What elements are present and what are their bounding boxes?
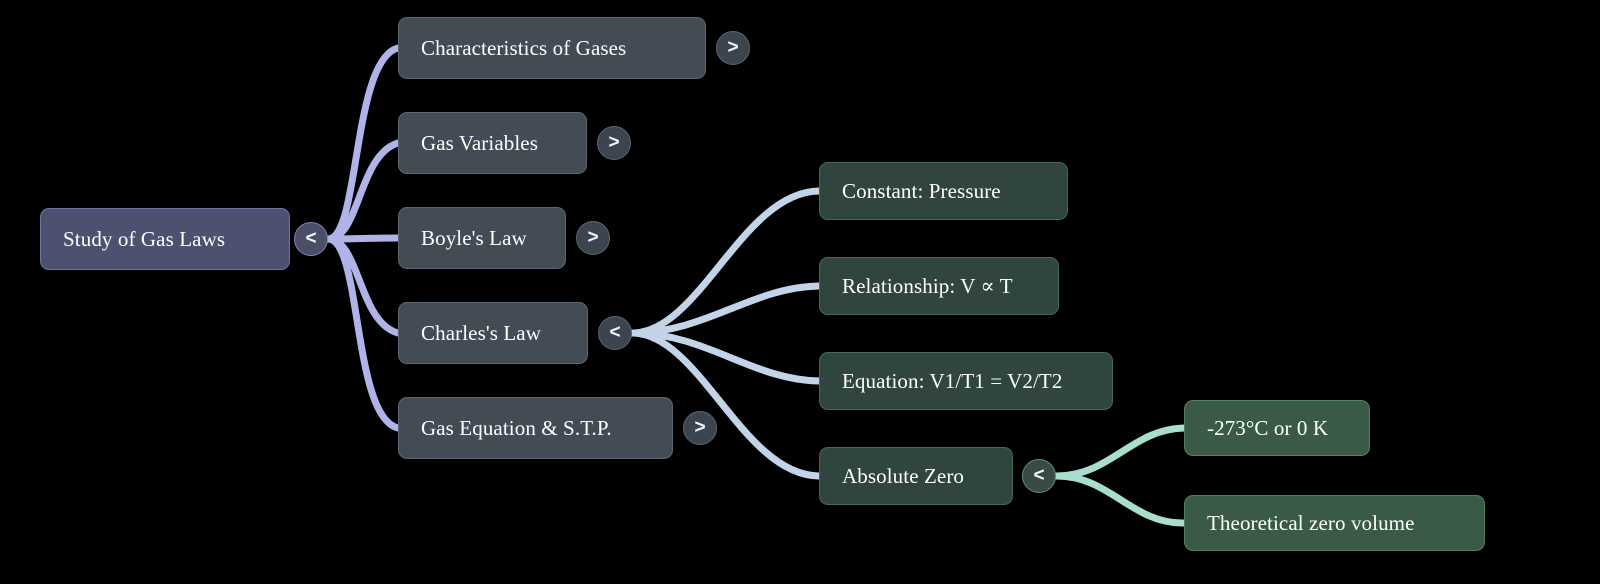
edge-absolute-zero-to-273c	[1057, 428, 1184, 476]
edges-absolute-zero	[1057, 428, 1184, 523]
node-equation-v1t1-v2t2-label: Equation: V1/T1 = V2/T2	[842, 371, 1062, 392]
chevron-right-icon: >	[608, 133, 619, 152]
node-gas-variables-label: Gas Variables	[421, 133, 538, 154]
node-absolute-zero[interactable]: Absolute Zero	[819, 447, 1013, 505]
node-minus-273c-or-0k-label: -273°C or 0 K	[1207, 418, 1328, 439]
node-theoretical-zero-volume-label: Theoretical zero volume	[1207, 513, 1415, 534]
edge-root-to-gas-equation	[328, 239, 398, 428]
node-root[interactable]: Study of Gas Laws	[40, 208, 290, 270]
node-root-label: Study of Gas Laws	[63, 229, 225, 250]
edge-absolute-zero-to-theoretical-volume	[1057, 476, 1184, 523]
edge-root-to-gas-variables	[328, 143, 398, 239]
edge-root-to-characteristics	[328, 48, 398, 239]
toggle-gas-variables[interactable]: >	[597, 126, 631, 160]
node-relationship-v-prop-t-label: Relationship: V ∝ T	[842, 276, 1013, 297]
toggle-boyles-law[interactable]: >	[576, 221, 610, 255]
toggle-absolute-zero[interactable]: <	[1022, 459, 1056, 493]
chevron-right-icon: >	[694, 418, 705, 437]
node-charles-law[interactable]: Charles's Law	[398, 302, 588, 364]
edge-charles-to-relationship	[632, 286, 819, 333]
edge-charles-to-constant-pressure	[632, 191, 819, 333]
mindmap-canvas: Study of Gas Laws < Characteristics of G…	[0, 0, 1600, 584]
node-minus-273c-or-0k[interactable]: -273°C or 0 K	[1184, 400, 1370, 456]
edge-root-to-charles-law	[328, 239, 398, 333]
chevron-left-icon: <	[305, 229, 316, 248]
node-equation-v1t1-v2t2[interactable]: Equation: V1/T1 = V2/T2	[819, 352, 1113, 410]
node-characteristics-of-gases[interactable]: Characteristics of Gases	[398, 17, 706, 79]
node-boyles-law[interactable]: Boyle's Law	[398, 207, 566, 269]
edge-charles-to-equation	[632, 333, 819, 381]
toggle-gas-equation-stp[interactable]: >	[683, 411, 717, 445]
node-constant-pressure-label: Constant: Pressure	[842, 181, 1001, 202]
node-relationship-v-prop-t[interactable]: Relationship: V ∝ T	[819, 257, 1059, 315]
node-boyles-law-label: Boyle's Law	[421, 228, 527, 249]
node-constant-pressure[interactable]: Constant: Pressure	[819, 162, 1068, 220]
node-charles-law-label: Charles's Law	[421, 323, 541, 344]
chevron-left-icon: <	[1033, 466, 1044, 485]
chevron-left-icon: <	[609, 323, 620, 342]
edges-root	[328, 48, 398, 428]
toggle-charles-law[interactable]: <	[598, 316, 632, 350]
chevron-right-icon: >	[727, 38, 738, 57]
node-characteristics-of-gases-label: Characteristics of Gases	[421, 38, 626, 59]
node-gas-variables[interactable]: Gas Variables	[398, 112, 587, 174]
toggle-characteristics-of-gases[interactable]: >	[716, 31, 750, 65]
edge-root-to-boyles-law	[328, 238, 398, 239]
chevron-right-icon: >	[587, 228, 598, 247]
node-theoretical-zero-volume[interactable]: Theoretical zero volume	[1184, 495, 1485, 551]
node-absolute-zero-label: Absolute Zero	[842, 466, 964, 487]
node-gas-equation-stp-label: Gas Equation & S.T.P.	[421, 418, 612, 439]
node-gas-equation-stp[interactable]: Gas Equation & S.T.P.	[398, 397, 673, 459]
toggle-root[interactable]: <	[294, 222, 328, 256]
